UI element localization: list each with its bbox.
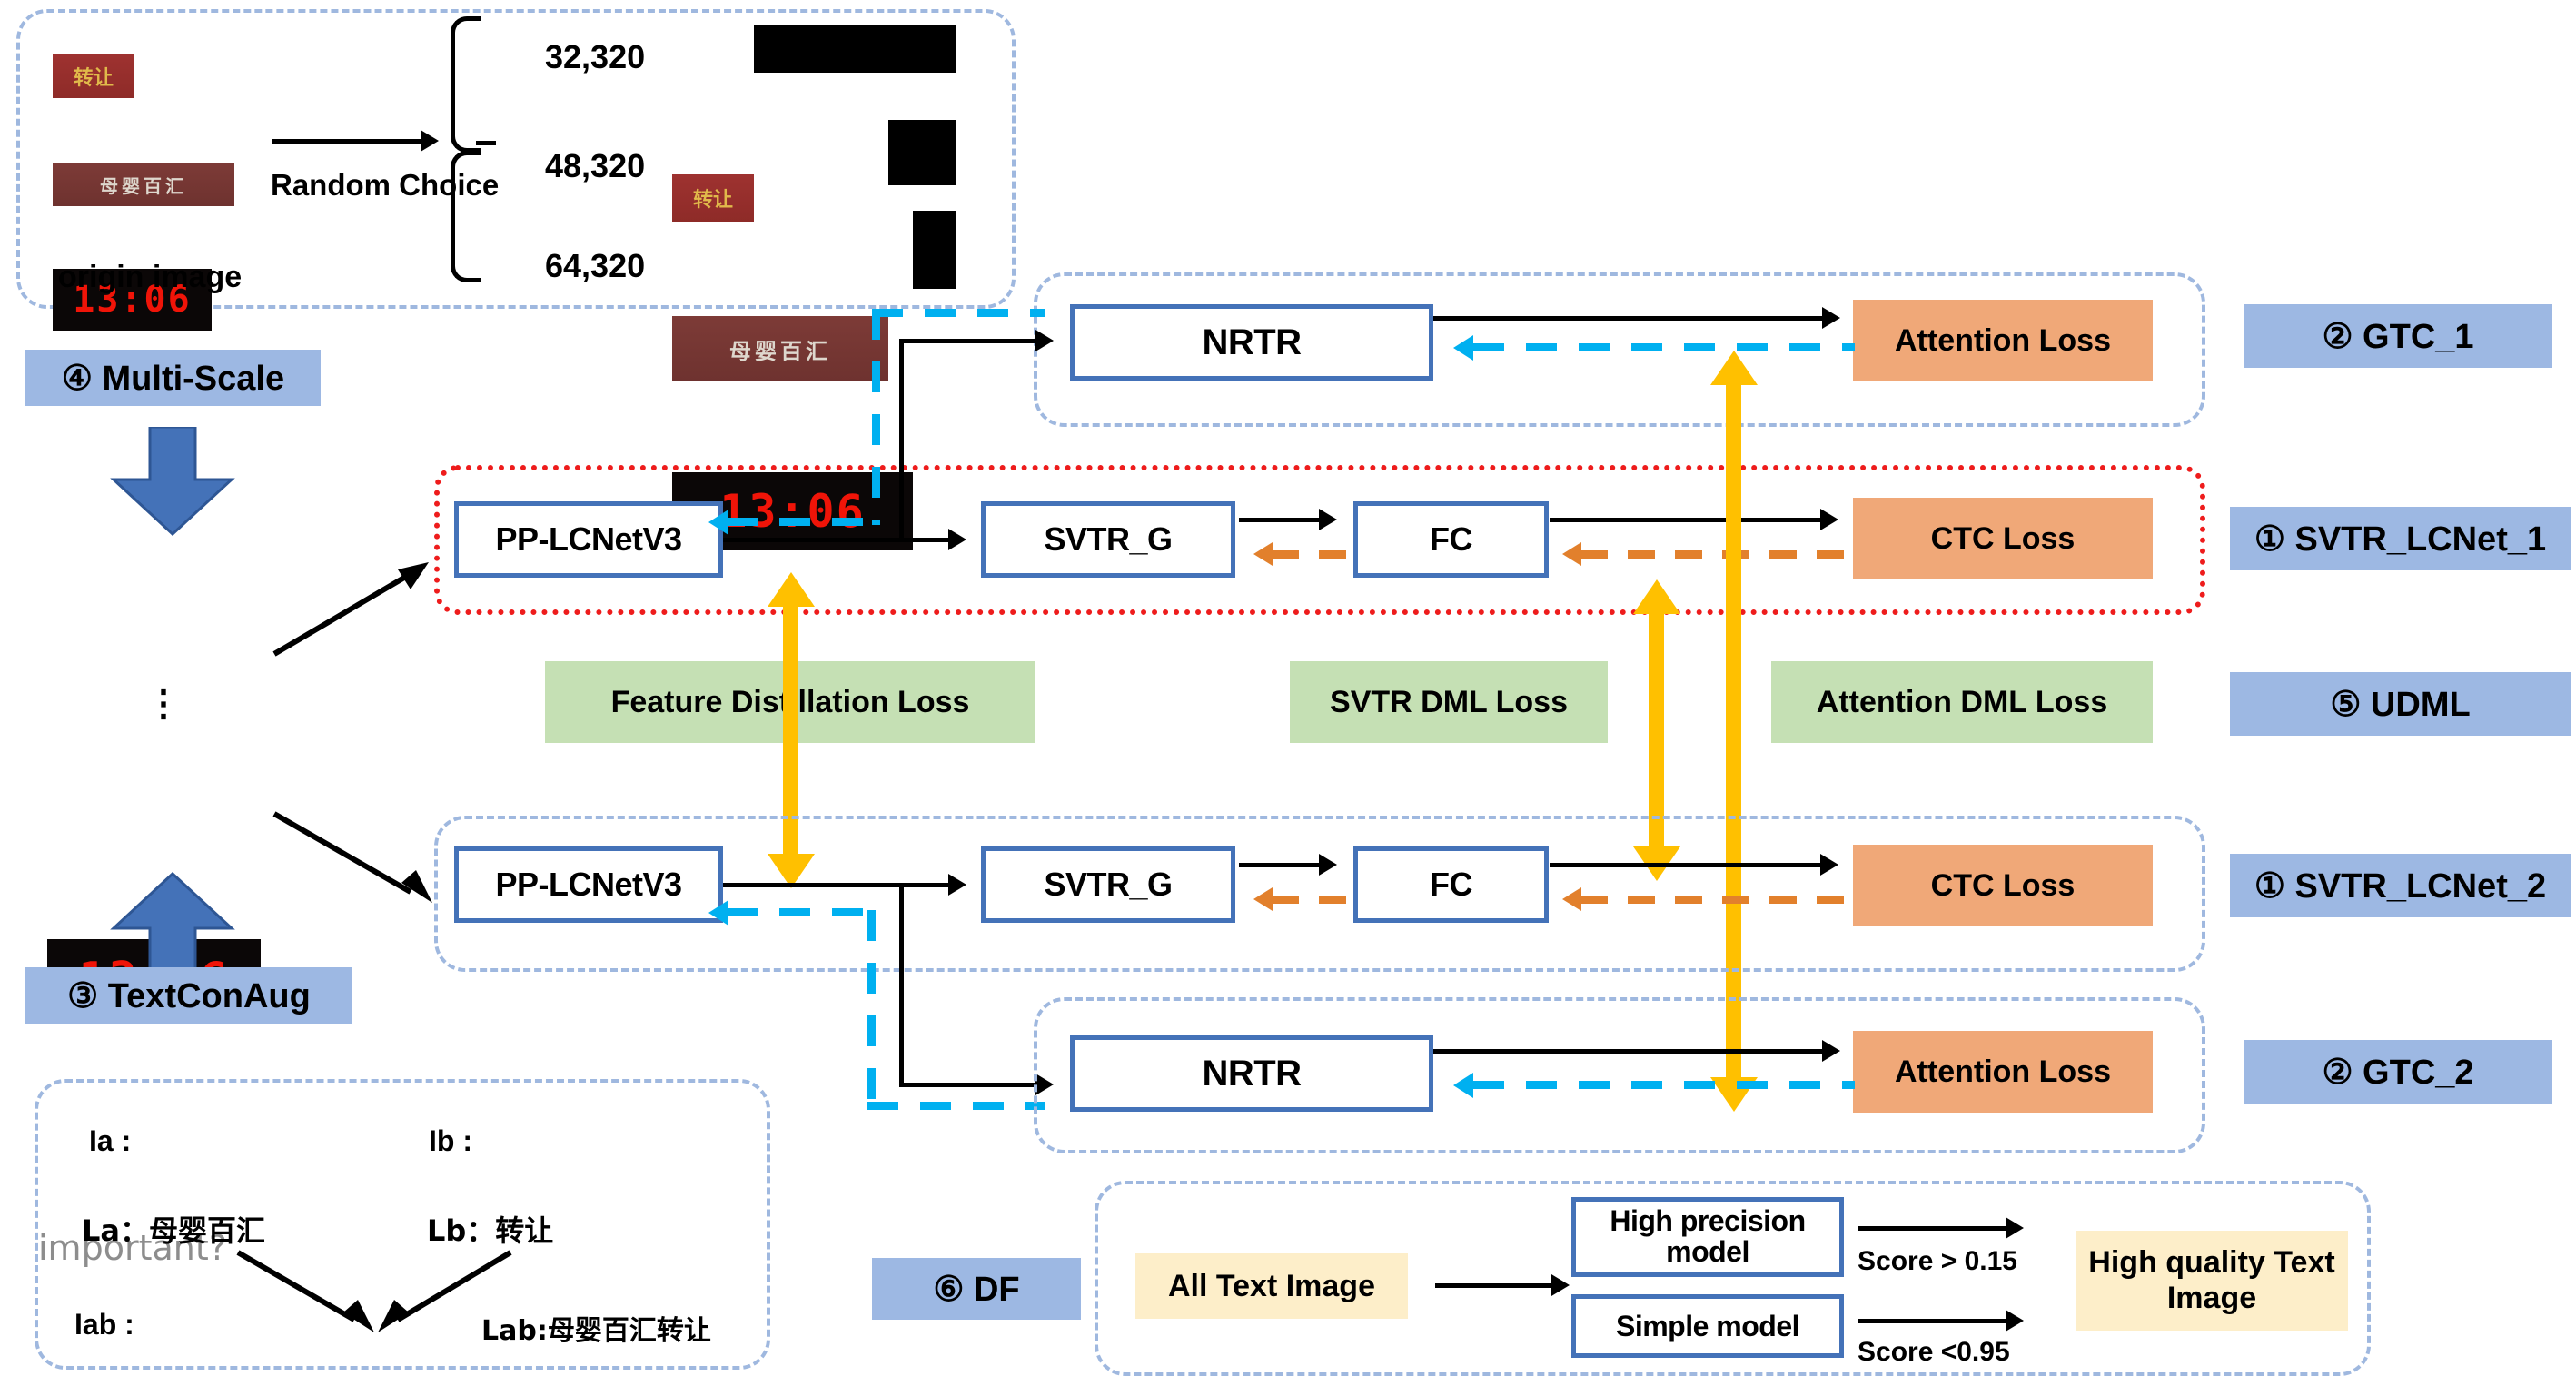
- df-simple-arrow-line: [1858, 1319, 2007, 1323]
- scale-image-2: [672, 316, 888, 381]
- yellow-arrow-svtrdml-up: [1633, 579, 1680, 614]
- multiscale-brace: [451, 16, 481, 153]
- multiscale-arrow-line: [272, 139, 422, 144]
- df-high-arrow-line: [1858, 1226, 2007, 1231]
- scale-size-1: 32,320: [545, 38, 645, 76]
- fc-bottom-to-ctc-arrow: [1820, 854, 1838, 876]
- fc-bottom-to-svtrg-backprop: [1272, 896, 1353, 904]
- backprop-top-from-gtc: [872, 309, 1045, 317]
- origin-image-muying-baihui: [53, 163, 234, 206]
- fc-bottom-to-ctc-line: [1550, 863, 1822, 867]
- backbone-top-branch-hline: [899, 339, 1040, 343]
- df-input-box: All Text Image: [1135, 1253, 1408, 1319]
- scale-size-3: 64,320: [545, 247, 645, 285]
- module-fc-top[interactable]: FC: [1353, 501, 1549, 578]
- chip-df[interactable]: ⑥ DF: [872, 1258, 1081, 1320]
- chip-svtr-lcnet-2[interactable]: ① SVTR_LCNet_2: [2230, 854, 2571, 917]
- ctc-bottom-to-fc-backprop-arrow: [1562, 887, 1581, 911]
- backbone-bottom-branch-hline: [899, 1083, 1040, 1087]
- df-score-high-label: Score > 0.15: [1858, 1246, 2017, 1277]
- sample-vertical-dots: ⋮: [145, 683, 182, 725]
- svtrg-top-to-fc-arrow: [1319, 509, 1337, 530]
- df-simple-arrow-head: [2006, 1310, 2024, 1332]
- scale-image-3-pad: [913, 211, 956, 289]
- module-nrtr-bottom[interactable]: NRTR: [1070, 1035, 1433, 1112]
- nrtr-top-to-loss-line: [1433, 316, 1824, 321]
- backbone-top-out-arrow: [948, 529, 966, 550]
- yellow-arrow-attndml-up: [1710, 351, 1758, 385]
- backbone-bottom-out-line: [723, 883, 950, 887]
- fc-top-to-ctc-line: [1550, 518, 1822, 522]
- origin-image-caption: origin image: [58, 260, 242, 295]
- diagram-canvas: origin image Random Choice 32,320 48,320…: [0, 0, 2576, 1386]
- yellow-arrow-feature-up: [768, 572, 815, 607]
- backbone-bottom-out-arrow: [948, 874, 966, 896]
- df-simple-model[interactable]: Simple model: [1571, 1294, 1844, 1358]
- loss-attention-dml: Attention DML Loss: [1771, 661, 2153, 743]
- chip-gtc2[interactable]: ② GTC_2: [2244, 1040, 2552, 1104]
- fc-top-to-ctc-arrow: [1820, 509, 1838, 530]
- fc-bottom-to-svtrg-backprop-arrow: [1253, 887, 1273, 911]
- backbone-top-branch-vline: [899, 339, 904, 540]
- backbone-top-branch-arrow: [1035, 330, 1054, 351]
- df-output-box: High quality Text Image: [2076, 1231, 2348, 1331]
- module-svtr-g-bottom[interactable]: SVTR_G: [981, 846, 1235, 923]
- loss-ctc-bottom: CTC Loss: [1853, 845, 2153, 926]
- backprop-bottom-vline: [867, 910, 876, 1110]
- loss-attention-top: Attention Loss: [1853, 300, 2153, 381]
- chip-udml[interactable]: ⑤ UDML: [2230, 672, 2571, 736]
- fc-top-to-svtrg-backprop-arrow: [1253, 542, 1273, 566]
- multiscale-down-arrow: [100, 427, 245, 536]
- df-high-precision-model[interactable]: High precision model: [1571, 1197, 1844, 1277]
- scale-size-2: 48,320: [545, 147, 645, 185]
- fc-top-to-svtrg-backprop: [1272, 550, 1353, 559]
- loss-to-nrtr-top-backprop: [1473, 343, 1855, 351]
- svtrg-bottom-to-fc-arrow: [1319, 854, 1337, 876]
- loss-svtr-dml: SVTR DML Loss: [1290, 661, 1608, 743]
- scale-image-2-pad: [888, 120, 956, 185]
- chip-multi-scale[interactable]: ④ Multi-Scale: [25, 350, 321, 406]
- df-high-arrow-head: [2006, 1217, 2024, 1239]
- multiscale-brace-tip: [476, 141, 496, 145]
- nrtr-top-to-loss-arrow: [1822, 307, 1840, 329]
- df-input-arrow-line: [1435, 1283, 1553, 1288]
- sample-to-backbone1-arrow: [272, 559, 436, 658]
- chip-svtr-lcnet-1[interactable]: ① SVTR_LCNet_1: [2230, 507, 2571, 570]
- loss-attention-bottom: Attention Loss: [1853, 1031, 2153, 1113]
- loss-to-nrtr-top-backprop-arrow: [1453, 335, 1473, 361]
- lb-label: Lb：转让: [427, 1208, 553, 1250]
- sample-to-backbone2-arrow: [272, 808, 445, 908]
- module-backbone-bottom[interactable]: PP-LCNetV3: [454, 846, 723, 923]
- textconaug-up-arrow: [100, 872, 245, 981]
- ctc-top-to-fc-backprop-arrow: [1562, 542, 1581, 566]
- ctc-bottom-to-fc-backprop: [1580, 896, 1853, 904]
- origin-image-zhuanrang: [53, 54, 134, 98]
- df-score-low-label: Score <0.95: [1858, 1337, 2010, 1368]
- chip-gtc1[interactable]: ② GTC_1: [2244, 304, 2552, 368]
- svtrg-top-to-fc-line: [1239, 518, 1321, 522]
- ctc-top-to-fc-backprop: [1580, 550, 1853, 559]
- module-nrtr-top[interactable]: NRTR: [1070, 304, 1433, 381]
- backprop-bottom-hline: [727, 908, 875, 916]
- loss-to-nrtr-bottom-backprop: [1473, 1081, 1855, 1089]
- loss-ctc-top: CTC Loss: [1853, 498, 2153, 579]
- backprop-top-hline: [727, 518, 879, 526]
- loss-to-nrtr-bottom-backprop-arrow: [1453, 1073, 1473, 1098]
- backbone-top-out-line: [723, 538, 950, 542]
- backprop-bottom-to-gtc2: [867, 1102, 1045, 1110]
- backprop-bottom-arrow: [708, 900, 728, 926]
- iab-label: Iab :: [74, 1308, 134, 1341]
- backprop-top-vline: [872, 309, 880, 525]
- df-input-arrow-head: [1551, 1274, 1570, 1296]
- ib-label: Ib :: [429, 1124, 472, 1158]
- multiscale-brace-lower: [451, 151, 481, 282]
- chip-textconaug[interactable]: ③ TextConAug: [25, 967, 352, 1024]
- ia-label: Ia :: [89, 1124, 131, 1158]
- multiscale-arrow-head: [421, 130, 439, 152]
- la-label: La：母婴百汇: [82, 1208, 265, 1250]
- scale-image-1-pad: [754, 25, 956, 73]
- module-svtr-g-top[interactable]: SVTR_G: [981, 501, 1235, 578]
- module-backbone-top[interactable]: PP-LCNetV3: [454, 501, 723, 578]
- backbone-bottom-branch-vline: [899, 883, 904, 1087]
- module-fc-bottom[interactable]: FC: [1353, 846, 1549, 923]
- lab-label: Lab:母婴百汇转让: [481, 1308, 711, 1348]
- yellow-arrow-attndml-shaft: [1726, 381, 1741, 1081]
- nrtr-bottom-to-loss-line: [1433, 1049, 1824, 1054]
- scale-image-1: [672, 174, 754, 222]
- nrtr-bottom-to-loss-arrow: [1822, 1040, 1840, 1062]
- svtrg-bottom-to-fc-line: [1239, 863, 1321, 867]
- backprop-top-arrow: [708, 510, 728, 535]
